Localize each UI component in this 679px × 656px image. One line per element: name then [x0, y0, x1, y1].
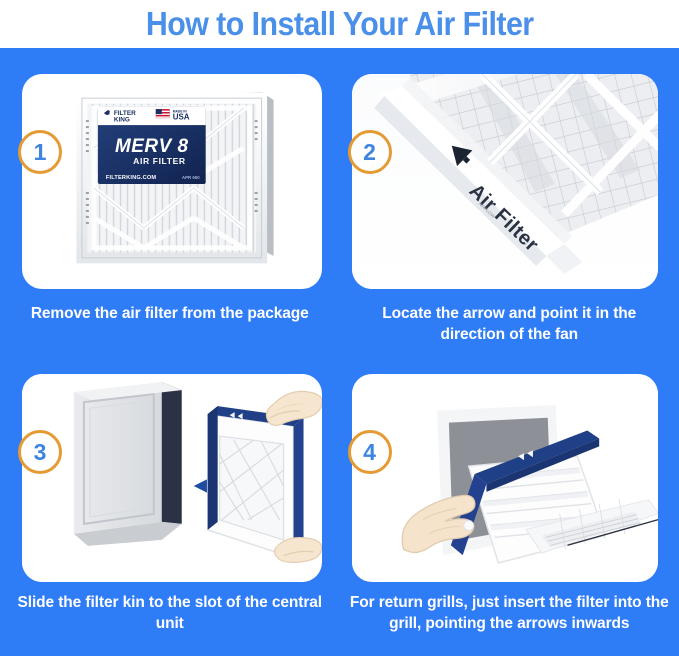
- step-badge-1: 1: [18, 130, 62, 174]
- merv8-filter-svg: FILTER KING MADE IN USA MERV 8 AIR FILTE…: [22, 74, 322, 289]
- usa-flag-icon: [156, 109, 170, 118]
- return-grill-illustration: [352, 374, 659, 582]
- step-panel-1: FILTER KING MADE IN USA MERV 8 AIR FILTE…: [0, 48, 340, 352]
- filter-arrow-illustration: Air Filter AIRFLOW: [352, 74, 659, 289]
- merv-rating: MERV 8: [115, 136, 189, 157]
- apr-code: APR 650: [182, 175, 200, 180]
- step-caption-3: Slide the filter kin to the slot of the …: [10, 592, 330, 634]
- step-caption-1: Remove the air filter from the package: [10, 303, 330, 324]
- filter-corner-svg: Air Filter AIRFLOW: [352, 74, 659, 289]
- steps-grid: FILTER KING MADE IN USA MERV 8 AIR FILTE…: [0, 48, 679, 656]
- step-caption-2: Locate the arrow and point it in the dir…: [350, 303, 670, 345]
- website: FILTERKING.COM: [106, 175, 157, 181]
- step-panel-4: 4 For return grills, just insert the fil…: [340, 352, 679, 656]
- brand-line-2: KING: [114, 117, 130, 124]
- step-panel-3: 3 Slide the filter kin to the slot of th…: [0, 352, 340, 656]
- air-filter-held: [208, 406, 304, 558]
- slide-filter-illustration: [22, 374, 322, 582]
- made-in-country: USA: [173, 113, 190, 122]
- step-3-image-card: [22, 374, 322, 582]
- filter-package-illustration: FILTER KING MADE IN USA MERV 8 AIR FILTE…: [22, 74, 322, 289]
- step-4-image-card: [352, 374, 659, 582]
- return-grill-svg: [352, 374, 659, 582]
- page-header: How to Install Your Air Filter: [0, 0, 679, 48]
- central-unit: [74, 382, 182, 546]
- step-badge-4: 4: [348, 430, 392, 474]
- step-2-image-card: Air Filter AIRFLOW: [352, 74, 659, 289]
- step-badge-2: 2: [348, 130, 392, 174]
- step-panel-2: Air Filter AIRFLOW 2 Locate the arrow an…: [340, 48, 679, 352]
- step-badge-3: 3: [18, 430, 62, 474]
- slide-filter-svg: [22, 374, 322, 582]
- step-caption-4: For return grills, just insert the filte…: [350, 592, 670, 634]
- product-type: AIR FILTER: [133, 156, 186, 166]
- page-title: How to Install Your Air Filter: [146, 7, 534, 41]
- step-1-image-card: FILTER KING MADE IN USA MERV 8 AIR FILTE…: [22, 74, 322, 289]
